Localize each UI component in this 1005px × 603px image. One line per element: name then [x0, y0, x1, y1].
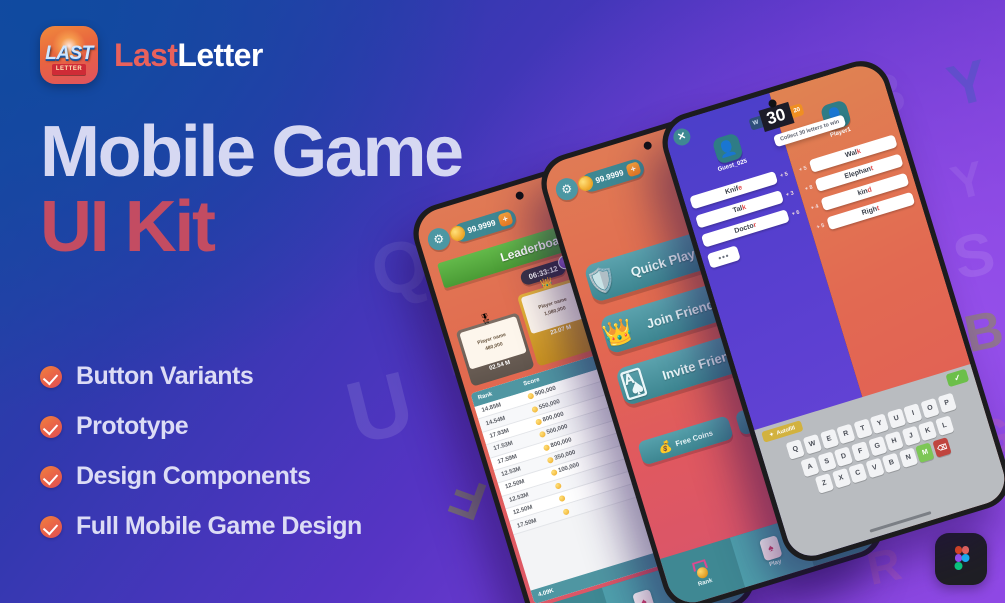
- keyboard-key-m[interactable]: M: [916, 442, 935, 463]
- gear-icon[interactable]: ⚙: [425, 225, 452, 252]
- keyboard-key-d[interactable]: D: [834, 446, 853, 467]
- add-coins-button[interactable]: +: [497, 211, 513, 227]
- sparkle-icon: ✦: [769, 431, 775, 438]
- word-points: + 5: [779, 171, 788, 179]
- keyboard-key-s[interactable]: S: [817, 451, 836, 472]
- word-points: + 5: [798, 165, 807, 173]
- keyboard-key-v[interactable]: V: [865, 458, 884, 479]
- crown-icon: 👑: [593, 307, 643, 357]
- word-points: + 5: [816, 222, 825, 230]
- keyboard-key-b[interactable]: B: [882, 453, 901, 474]
- word-last-letter: r: [753, 222, 758, 229]
- keyboard-key-o[interactable]: O: [920, 398, 939, 419]
- autofill-label: Autofill: [776, 425, 796, 436]
- add-coins-button[interactable]: +: [625, 161, 641, 177]
- card-icon: ♠: [759, 535, 783, 561]
- coin-amount: 99.9999: [466, 218, 496, 235]
- keyboard-key-r[interactable]: R: [836, 424, 855, 445]
- menu-button-label: Join Friend: [645, 296, 716, 331]
- figma-logo-icon: [935, 533, 987, 585]
- coin-icon: [448, 224, 467, 243]
- close-icon[interactable]: ✕: [671, 126, 692, 147]
- phone-mockups: ⚙ 99.9999 + Player1 👤 Leaderboard 06:33:…: [0, 0, 1005, 603]
- coin-icon: [550, 469, 557, 476]
- coin-icon: [531, 405, 538, 412]
- keyboard-key-t[interactable]: T: [853, 418, 872, 439]
- keyboard-key-k[interactable]: K: [918, 420, 937, 441]
- keyboard-key-y[interactable]: Y: [870, 413, 889, 434]
- keyboard-key-a[interactable]: A: [800, 456, 819, 477]
- keyboard-key-h[interactable]: H: [884, 430, 903, 451]
- word-last-letter: k: [741, 204, 747, 212]
- keyboard-key-n[interactable]: N: [899, 447, 918, 468]
- keyboard-key-g[interactable]: G: [868, 436, 887, 457]
- keyboard-key-e[interactable]: E: [820, 429, 839, 450]
- camera-punch-hole: [643, 141, 653, 151]
- word-points: + 6: [791, 209, 800, 217]
- coin-icon: [534, 418, 541, 425]
- word-points: + 4: [810, 203, 819, 211]
- left-word-list: Knife+ 5Talk+ 3Doctor+ 6•••: [683, 166, 813, 271]
- keyboard-key-j[interactable]: J: [901, 425, 920, 446]
- card-icon: ♠: [632, 589, 656, 603]
- word-last-letter: d: [867, 186, 873, 194]
- keyboard-key-x[interactable]: X: [831, 468, 850, 489]
- promo-banner: QUMRFCDLUGBYDYSBGGMLR LAST LETTER LastLe…: [0, 0, 1005, 603]
- coin-balance[interactable]: 99.9999 +: [451, 207, 518, 244]
- coin-icon: [542, 444, 549, 451]
- podium-place: 🎖Player name480,00002.54 M: [456, 312, 535, 386]
- nav-label-rank: Rank: [697, 578, 713, 588]
- word-points: + 8: [804, 184, 813, 192]
- coin-icon: [546, 457, 553, 464]
- keyboard-key-i[interactable]: I: [904, 403, 923, 424]
- keyboard-key-l[interactable]: L: [935, 415, 954, 436]
- small-button-label: Free Coins: [674, 428, 714, 448]
- camera-punch-hole: [515, 191, 525, 201]
- coin-icon: [527, 393, 534, 400]
- cards-icon: 🂡: [609, 359, 659, 409]
- keyboard-key-backspace[interactable]: ⌫: [932, 437, 951, 458]
- keyboard-key-f[interactable]: F: [851, 441, 870, 462]
- keyboard-key-p[interactable]: P: [937, 393, 956, 414]
- word-text: Elephan: [844, 166, 872, 181]
- right-word-list: Walk+ 5Elephant+ 8kind+ 4Right+ 5: [792, 133, 921, 236]
- coin-balance[interactable]: 99.9999 +: [579, 157, 646, 194]
- coins-icon: 💰: [657, 438, 674, 454]
- coin-icon: [538, 431, 545, 438]
- keyboard-key-z[interactable]: Z: [815, 473, 834, 494]
- word-last-letter: k: [856, 148, 862, 156]
- nav-label-play: Play: [769, 559, 783, 568]
- coin-amount: 99.9999: [594, 168, 624, 185]
- gear-icon[interactable]: ⚙: [553, 175, 580, 202]
- home-indicator: [869, 511, 931, 533]
- keyboard-key-u[interactable]: U: [887, 408, 906, 429]
- menu-small-button[interactable]: 💰Free Coins: [637, 415, 734, 465]
- word-text: Docto: [734, 223, 755, 235]
- footer-rank: 4.09K: [538, 588, 555, 598]
- coin-icon: [554, 482, 561, 489]
- shield-icon: 🛡️: [577, 256, 627, 306]
- more-words-indicator: •••: [707, 245, 741, 269]
- coin-icon: [576, 174, 595, 193]
- word-points: + 3: [785, 190, 794, 198]
- keyboard-key-c[interactable]: C: [848, 463, 867, 484]
- keyboard-key-q[interactable]: Q: [786, 439, 805, 460]
- menu-button-label: Quick Play: [629, 245, 697, 279]
- coin-icon: [558, 495, 565, 502]
- word-last-letter: e: [737, 184, 743, 192]
- keyboard-key-w[interactable]: W: [803, 434, 822, 455]
- coin-icon: [562, 508, 569, 515]
